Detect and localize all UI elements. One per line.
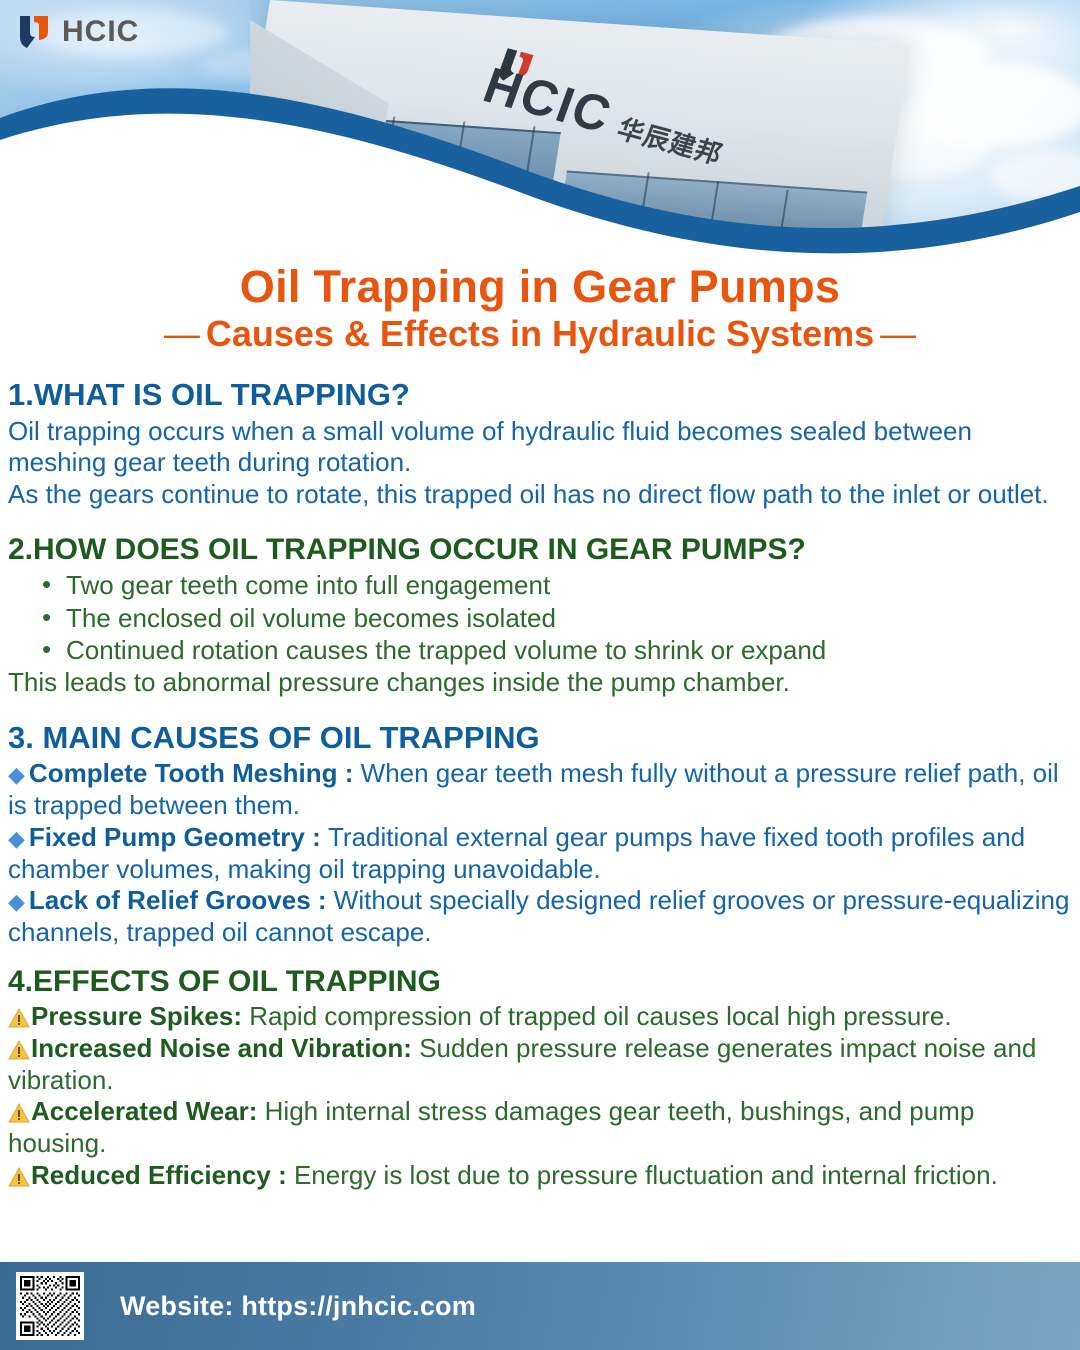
hcic-logo-icon	[18, 14, 52, 50]
spacer	[0, 699, 1080, 721]
list-item: The enclosed oil volume becomes isolated	[38, 602, 1072, 635]
effect-text: Energy is lost due to pressure fluctuati…	[287, 1160, 998, 1190]
page-subtitle-text: Causes & Effects in Hydraulic Systems	[206, 313, 874, 354]
hcic-logo: HCIC	[18, 14, 139, 50]
diamond-bullet-icon: ◆	[8, 826, 29, 851]
header-banner: HCIC 华辰建邦 HCIC	[0, 0, 1080, 262]
section-2-closing: This leads to abnormal pressure changes …	[8, 667, 1072, 699]
section-effects: 4.EFFECTS OF OIL TRAPPING Pressure Spike…	[0, 965, 1080, 1192]
cause-key: Fixed Pump Geometry	[29, 822, 305, 852]
effect-item: Reduced Efficiency : Energy is lost due …	[8, 1160, 1072, 1192]
spacer	[0, 949, 1080, 965]
effect-key: Accelerated Wear:	[31, 1096, 257, 1126]
section-4-heading: 4.EFFECTS OF OIL TRAPPING	[8, 965, 1072, 999]
diamond-bullet-icon: ◆	[8, 889, 29, 914]
qr-code[interactable]	[16, 1272, 84, 1340]
diamond-bullet-icon: ◆	[8, 762, 29, 787]
effect-item: Pressure Spikes: Rapid compression of tr…	[8, 1001, 1072, 1033]
warning-triangle-icon	[8, 1103, 30, 1123]
effect-key: Pressure Spikes:	[31, 1001, 242, 1031]
effect-key: Increased Noise and Vibration:	[31, 1033, 412, 1063]
cause-item: ◆Lack of Relief Grooves : Without specia…	[8, 885, 1072, 948]
cause-item: ◆Fixed Pump Geometry : Traditional exter…	[8, 822, 1072, 885]
spacer	[0, 511, 1080, 533]
list-item: Two gear teeth come into full engagement	[38, 569, 1072, 602]
dash-left: —	[158, 313, 206, 354]
effect-item: Accelerated Wear: High internal stress d…	[8, 1096, 1072, 1159]
effect-key: Reduced Efficiency :	[31, 1160, 287, 1190]
warning-triangle-icon	[8, 1008, 30, 1028]
footer-bar: Website: https://jnhcic.com	[0, 1260, 1080, 1350]
cause-key: Complete Tooth Meshing	[29, 758, 338, 788]
content-area: 1.WHAT IS OIL TRAPPING? Oil trapping occ…	[0, 378, 1080, 1192]
cause-key: Lack of Relief Grooves	[29, 885, 311, 915]
cause-separator: :	[311, 885, 334, 915]
warning-triangle-icon	[8, 1167, 30, 1187]
website-label[interactable]: Website: https://jnhcic.com	[120, 1291, 476, 1322]
section-1-paragraph: As the gears continue to rotate, this tr…	[8, 479, 1072, 511]
dash-right: —	[874, 313, 922, 354]
cause-separator: :	[338, 758, 361, 788]
section-1-heading: 1.WHAT IS OIL TRAPPING?	[8, 378, 1072, 413]
page-title: Oil Trapping in Gear Pumps	[0, 264, 1080, 309]
section-main-causes: 3. MAIN CAUSES OF OIL TRAPPING ◆Complete…	[0, 721, 1080, 949]
list-item: Continued rotation causes the trapped vo…	[38, 634, 1072, 667]
section-what-is-oil-trapping: 1.WHAT IS OIL TRAPPING? Oil trapping occ…	[0, 378, 1080, 511]
cause-item: ◆Complete Tooth Meshing : When gear teet…	[8, 758, 1072, 821]
infographic-page: HCIC 华辰建邦 HCIC Oil Trapping in Gear Pump…	[0, 0, 1080, 1350]
cause-separator: :	[305, 822, 328, 852]
section-2-heading: 2.HOW DOES OIL TRAPPING OCCUR IN GEAR PU…	[8, 533, 1072, 567]
warning-triangle-icon	[8, 1040, 30, 1060]
section-2-bullet-list: Two gear teeth come into full engagement…	[8, 569, 1072, 667]
section-how-does-oil-trapping-occur: 2.HOW DOES OIL TRAPPING OCCUR IN GEAR PU…	[0, 533, 1080, 699]
section-1-paragraph: Oil trapping occurs when a small volume …	[8, 416, 1072, 479]
qr-code-image	[20, 1276, 80, 1336]
title-block: Oil Trapping in Gear Pumps —Causes & Eff…	[0, 264, 1080, 354]
page-subtitle: —Causes & Effects in Hydraulic Systems—	[0, 313, 1080, 354]
section-3-heading: 3. MAIN CAUSES OF OIL TRAPPING	[8, 721, 1072, 756]
effect-text: Rapid compression of trapped oil causes …	[242, 1001, 952, 1031]
effect-item: Increased Noise and Vibration: Sudden pr…	[8, 1033, 1072, 1096]
blue-wave-divider	[0, 0, 1080, 262]
hcic-logo-text: HCIC	[62, 15, 139, 49]
